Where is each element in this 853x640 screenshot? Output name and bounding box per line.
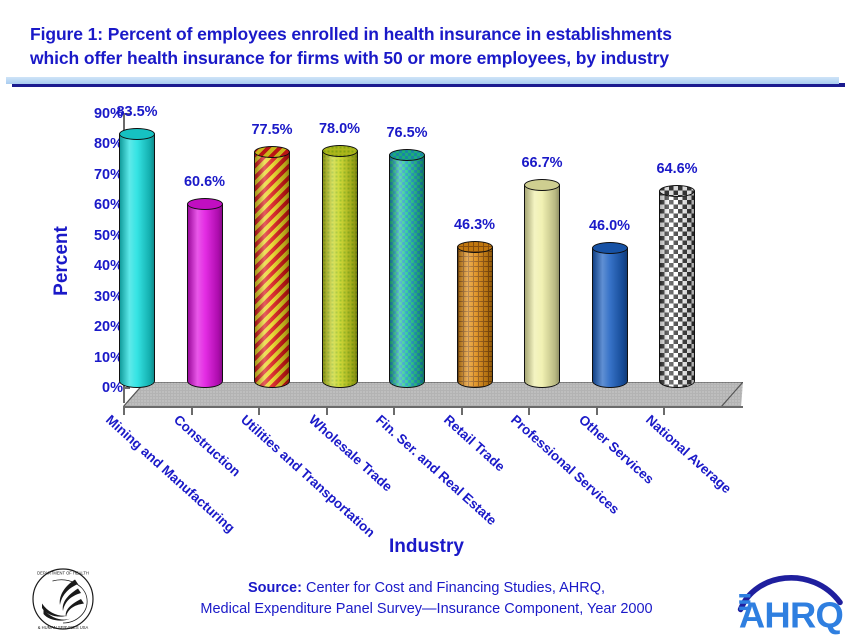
bar-chart: Percent 0%10%20%30%40%50%60%70%80%90% 83… [0, 100, 853, 530]
y-axis-tick-label: 70% [75, 167, 123, 183]
title-divider [6, 77, 851, 89]
bar[interactable]: 76.5% [389, 155, 425, 388]
svg-text:DEPARTMENT OF HEALTH: DEPARTMENT OF HEALTH [37, 570, 89, 575]
source-text: Center for Cost and Financing Studies, A… [302, 580, 605, 596]
x-axis-category-label: Retail Trade [440, 412, 507, 474]
figure-title-line-1: Figure 1: Percent of employees enrolled … [30, 22, 820, 46]
bar-body [457, 247, 493, 388]
y-axis-tick-label: 40% [75, 258, 123, 274]
bar-body [187, 204, 223, 388]
bar-value-label: 83.5% [116, 104, 157, 120]
x-axis-category-label: National Average [643, 412, 734, 496]
bar-shading [390, 155, 424, 387]
bar-body [322, 151, 358, 388]
bar-shading [188, 204, 222, 387]
x-axis-category-label: Construction [170, 412, 242, 479]
bar-value-label: 60.6% [184, 174, 225, 190]
svg-text:AHRQ: AHRQ [739, 595, 843, 636]
x-axis-tick-mark [326, 406, 328, 415]
bar[interactable]: 66.7% [524, 185, 560, 388]
bar-shading [660, 191, 694, 387]
y-axis-tick-label: 20% [75, 319, 123, 335]
bar-value-label: 46.0% [589, 218, 630, 234]
x-axis-category-label: Fin. Ser. and Real Estate [373, 412, 500, 528]
x-axis-tick-mark [461, 406, 463, 415]
bar-shading [120, 134, 154, 387]
bar-value-label: 76.5% [386, 125, 427, 141]
bar-body [389, 155, 425, 388]
bar[interactable]: 46.3% [457, 247, 493, 388]
bar-cap [592, 242, 628, 254]
bar-shading [255, 152, 289, 387]
bar[interactable]: 83.5% [119, 134, 155, 388]
bar-cap [254, 146, 290, 158]
x-axis-line [123, 406, 743, 408]
y-axis-tick-label: 0% [75, 380, 123, 396]
bar-cap [457, 241, 493, 253]
hhs-seal-logo: DEPARTMENT OF HEALTH & HUMAN SERVICES US… [24, 566, 102, 632]
bar-body [524, 185, 560, 388]
bar[interactable]: 46.0% [592, 248, 628, 388]
bar-value-label: 46.3% [454, 217, 495, 233]
bar[interactable]: 78.0% [322, 151, 358, 388]
source-note-line-1: Source: Center for Cost and Financing St… [0, 578, 853, 599]
bar-body [659, 191, 695, 388]
bar-cap [322, 145, 358, 157]
source-label: Source: [248, 580, 302, 596]
y-axis-tick-label: 30% [75, 289, 123, 305]
bar-body [592, 248, 628, 388]
y-axis-tick-label: 60% [75, 197, 123, 213]
x-axis-tick-mark [596, 406, 598, 415]
bar[interactable]: 77.5% [254, 152, 290, 388]
bar[interactable]: 64.6% [659, 191, 695, 388]
bar-value-label: 64.6% [656, 161, 697, 177]
bar-value-label: 78.0% [319, 121, 360, 137]
figure-title-line-2: which offer health insurance for firms w… [30, 46, 820, 70]
bar[interactable]: 60.6% [187, 204, 223, 388]
svg-text:& HUMAN SERVICES USA: & HUMAN SERVICES USA [38, 625, 89, 630]
ahrq-logo: AHRQ [735, 566, 847, 636]
bar-body [119, 134, 155, 388]
bar-cap [119, 128, 155, 140]
figure-title: Figure 1: Percent of employees enrolled … [30, 22, 820, 70]
x-axis-category-label: Utilities and Transportation [238, 412, 378, 540]
bar-body [254, 152, 290, 388]
x-axis-tick-mark [528, 406, 530, 415]
x-axis-category-label: Professional Services [508, 412, 622, 517]
bar-cap [187, 198, 223, 210]
x-axis-tick-mark [191, 406, 193, 415]
source-note: Source: Center for Cost and Financing St… [0, 578, 853, 620]
x-axis-tick-mark [393, 406, 395, 415]
bar-cap [524, 179, 560, 191]
bar-shading [323, 151, 357, 387]
y-axis-tick-label: 10% [75, 350, 123, 366]
x-axis-tick-mark [663, 406, 665, 415]
x-axis-category-label: Mining and Manufacturing [103, 412, 238, 536]
source-note-line-2: Medical Expenditure Panel Survey—Insuran… [0, 599, 853, 620]
x-axis-title: Industry [0, 536, 853, 558]
x-axis-tick-mark [123, 406, 125, 415]
title-divider-bar [6, 77, 839, 84]
y-axis-tick-label: 50% [75, 228, 123, 244]
y-axis-tick-label: 80% [75, 136, 123, 152]
x-axis-tick-mark [258, 406, 260, 415]
bar-shading [525, 185, 559, 387]
bar-value-label: 77.5% [251, 122, 292, 138]
y-axis-title: Percent [51, 181, 73, 341]
bar-shading [593, 248, 627, 387]
bar-shading [458, 247, 492, 387]
bar-value-label: 66.7% [521, 155, 562, 171]
